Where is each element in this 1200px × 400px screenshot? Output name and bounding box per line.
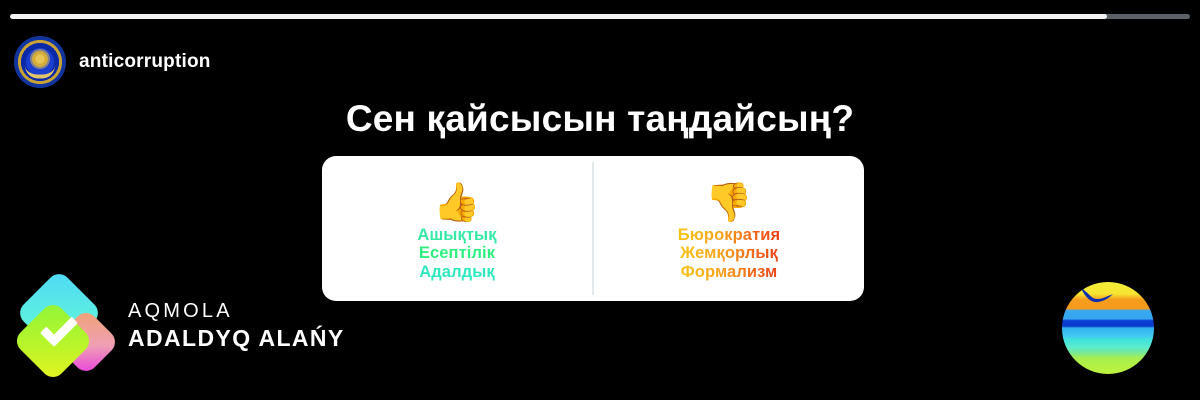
account-header[interactable]: anticorruption (14, 36, 211, 88)
choice-card: 👍 Ашықтық Есептілік Адалдық 👎 Бюрократия… (322, 156, 864, 301)
choice-option-good[interactable]: 👍 Ашықтық Есептілік Адалдық (322, 156, 592, 301)
bad-value-2: Жемқорлық (678, 244, 780, 262)
story-progress-bar[interactable] (10, 14, 1190, 19)
bird-icon (1080, 287, 1114, 303)
bad-values-list: Бюрократия Жемқорлық Формализм (678, 226, 780, 281)
brand-text: AQMOLA ADALDYQ ALAŃY (128, 301, 345, 350)
thumbs-down-icon: 👎 (705, 180, 752, 226)
emblem-sun-icon (32, 51, 48, 67)
good-value-1: Ашықтық (417, 226, 496, 244)
brand-lockup: AQMOLA ADALDYQ ALAŃY (22, 282, 345, 368)
akmola-region-circle-icon (1062, 282, 1154, 374)
aqmola-diamonds-check-icon (22, 282, 110, 368)
thumbs-up-icon: 👍 (433, 180, 480, 226)
choice-option-bad[interactable]: 👎 Бюрократия Жемқорлық Формализм (594, 156, 864, 301)
page-title: Сен қайсысын таңдайсың? (0, 98, 1200, 140)
bad-value-1: Бюрократия (678, 226, 780, 244)
good-values-list: Ашықтық Есептілік Адалдық (417, 226, 496, 281)
kazakhstan-emblem-icon[interactable] (14, 36, 66, 88)
story-progress-fill (10, 14, 1107, 19)
brand-line-2: ADALDYQ ALAŃY (128, 327, 345, 350)
bad-value-3: Формализм (678, 263, 780, 281)
account-name: anticorruption (79, 51, 211, 73)
good-value-2: Есептілік (417, 244, 496, 262)
good-value-3: Адалдық (417, 263, 496, 281)
brand-line-1: AQMOLA (128, 301, 345, 321)
emblem-moon-icon (25, 66, 55, 79)
